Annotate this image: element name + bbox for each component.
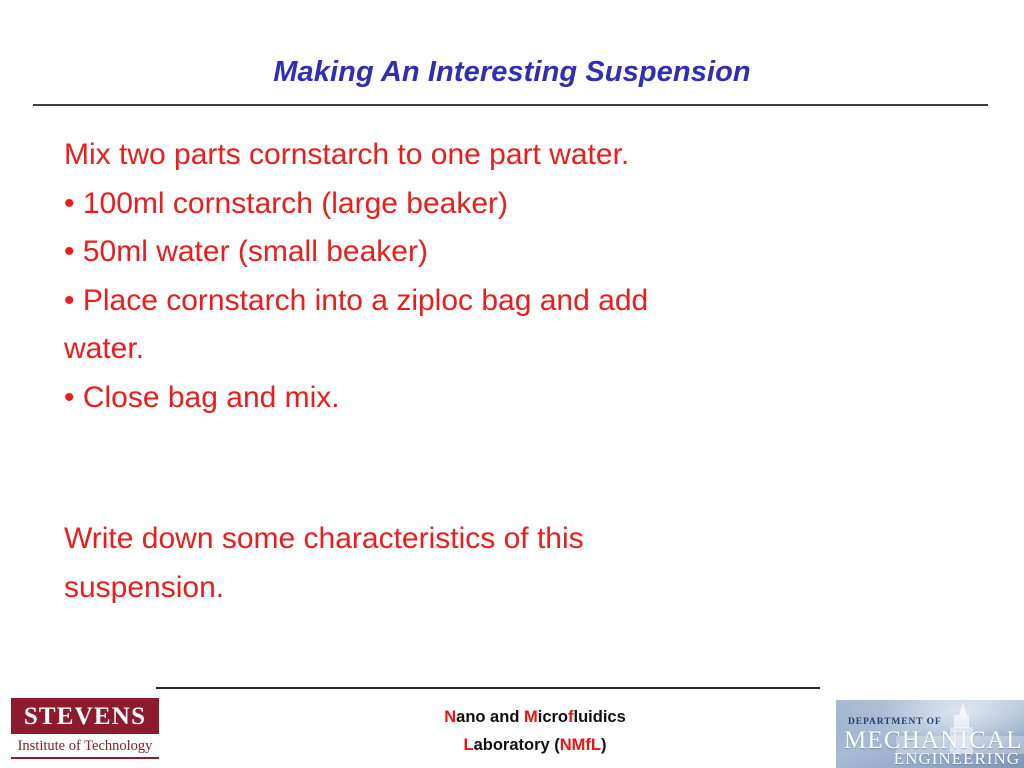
body-line-4: • Place cornstarch into a ziploc bag and… — [64, 277, 964, 326]
me-logo-department-label: DEPARTMENT OF — [848, 717, 942, 727]
stevens-logo: STEVENS Institute of Technology — [11, 698, 159, 759]
stevens-logo-tagline-band: Institute of Technology — [11, 734, 159, 759]
closing-paragraph-block: Write down some characteristics of this … — [64, 515, 964, 612]
me-logo-tower-spire — [959, 702, 967, 716]
body-text-block: Mix two parts cornstarch to one part wat… — [64, 131, 964, 422]
paragraph-line-1: Write down some characteristics of this — [64, 515, 964, 564]
footer-lab-l1-p1: N — [444, 708, 456, 726]
stevens-logo-name: STEVENS — [24, 704, 146, 729]
slide-canvas: Making An Interesting Suspension Mix two… — [0, 0, 1024, 768]
footer-divider — [156, 687, 820, 689]
mechanical-engineering-logo: DEPARTMENT OF MECHANICAL ENGINEERING — [836, 700, 1024, 768]
body-line-2: • 100ml cornstarch (large beaker) — [64, 180, 964, 229]
footer-lab-l2-p3: NMfL — [560, 736, 601, 754]
footer-lab-l1-p4: icro — [538, 708, 568, 726]
footer-lab-l1-p2: ano and — [456, 708, 524, 726]
body-line-6: • Close bag and mix. — [64, 374, 964, 423]
body-line-5: water. — [64, 325, 964, 374]
footer-lab-l1-p6: luidics — [574, 708, 626, 726]
footer-lab-line-2: Laboratory (NMfL) — [250, 731, 820, 759]
footer-lab-name: Nano and Microfluidics Laboratory (NMfL) — [250, 703, 820, 759]
body-line-3: • 50ml water (small beaker) — [64, 228, 964, 277]
me-logo-line-engineering: ENGINEERING — [894, 750, 1020, 767]
footer-lab-l2-p1: L — [463, 736, 473, 754]
footer-lab-l2-p2: aboratory ( — [474, 736, 560, 754]
footer-lab-line-1: Nano and Microfluidics — [250, 703, 820, 731]
stevens-logo-tagline: Institute of Technology — [18, 739, 153, 754]
footer-lab-l1-p3: M — [524, 708, 538, 726]
stevens-logo-wordmark: STEVENS — [11, 698, 159, 734]
footer-lab-l2-p4: ) — [601, 736, 607, 754]
paragraph-line-2: suspension. — [64, 564, 964, 613]
title-divider — [33, 104, 988, 106]
stevens-logo-underbar — [11, 757, 159, 759]
page-title: Making An Interesting Suspension — [0, 56, 1024, 89]
body-line-1: Mix two parts cornstarch to one part wat… — [64, 131, 964, 180]
